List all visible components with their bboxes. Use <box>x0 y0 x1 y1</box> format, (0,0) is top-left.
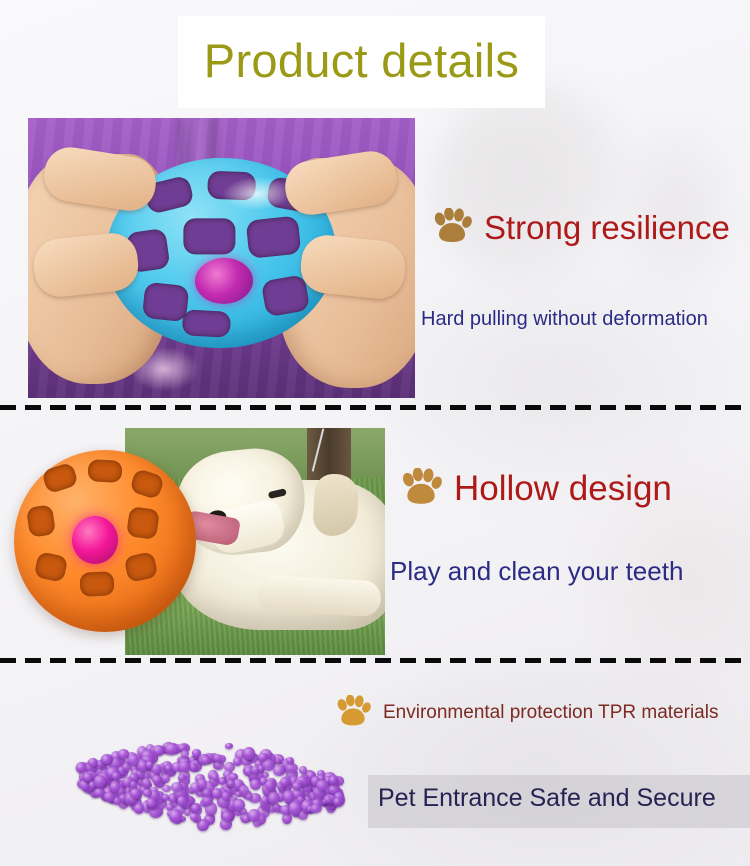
tpr-pellet <box>239 785 249 796</box>
paw-print-icon <box>335 695 371 729</box>
tpr-pellet <box>334 798 341 805</box>
tpr-pellet <box>152 775 162 785</box>
feature-heading: Hollow design <box>454 471 672 506</box>
tpr-pellet <box>165 743 178 755</box>
paw-print-icon <box>432 208 472 246</box>
tpr-pellet <box>134 803 144 814</box>
feature-hollow-design: Hollow design <box>400 468 672 508</box>
tpr-pellet <box>112 772 121 779</box>
tpr-pellet <box>162 785 171 792</box>
tpr-pellet <box>128 754 139 766</box>
tpr-pellet <box>211 773 219 780</box>
feature-subtext-tpr-materials: Pet Entrance Safe and Secure <box>378 786 716 811</box>
tpr-pellet <box>191 804 200 812</box>
product-details-page: Product details <box>0 0 750 866</box>
tpr-pellet <box>142 778 151 788</box>
tpr-pellet <box>76 762 86 772</box>
page-title: Product details <box>204 37 519 84</box>
feature-subtext-hollow-design: Play and clean your teeth <box>390 558 683 584</box>
section-divider-1 <box>0 405 750 410</box>
tpr-pellet <box>130 781 138 787</box>
tpr-pellet <box>192 749 201 757</box>
tpr-pellet <box>83 773 93 782</box>
orange-hollow-ball-cutout <box>14 450 196 632</box>
section-divider-2 <box>0 658 750 663</box>
tpr-pellet <box>165 765 172 771</box>
tpr-pellet <box>248 809 260 823</box>
tpr-pellet <box>316 780 329 791</box>
tpr-pellet <box>110 781 120 792</box>
tpr-pellet <box>250 779 261 790</box>
tpr-pellet <box>88 758 99 767</box>
tpr-pellet <box>197 778 207 789</box>
purple-tpr-pellets-photo <box>56 722 356 842</box>
tpr-pellet <box>162 774 171 783</box>
paw-print-icon <box>400 468 442 508</box>
tpr-pellet <box>177 796 187 806</box>
tpr-pellet <box>285 763 298 773</box>
tpr-pellet <box>310 804 322 814</box>
tpr-pellet <box>286 757 294 764</box>
tpr-pellet <box>190 813 198 821</box>
tpr-pellet <box>212 788 222 798</box>
tpr-pellet <box>201 756 210 765</box>
tpr-pellet <box>178 761 191 772</box>
tpr-pellet <box>273 765 285 777</box>
tpr-pellet <box>329 776 337 784</box>
tpr-pellet <box>94 788 104 797</box>
feature-tpr-materials: Environmental protection TPR materials <box>335 695 718 729</box>
page-title-banner: Product details <box>178 16 545 108</box>
tpr-pellet <box>225 743 232 749</box>
feature-subtext-strong-resilience: Hard pulling without deformation <box>421 309 708 329</box>
hands-stretching-blue-ball-photo <box>28 118 415 398</box>
tpr-pellet <box>233 757 242 766</box>
feature-heading: Environmental protection TPR materials <box>383 703 718 722</box>
tpr-pellet <box>146 761 154 769</box>
tpr-pellet <box>265 780 275 790</box>
tpr-pellet <box>169 809 182 823</box>
feature-heading: Strong resilience <box>484 211 730 244</box>
tpr-pellet <box>289 801 302 816</box>
tpr-pellet <box>233 799 245 812</box>
tpr-pellet <box>280 777 289 787</box>
tpr-pellet <box>268 792 280 804</box>
feature-strong-resilience: Strong resilience <box>432 208 730 246</box>
